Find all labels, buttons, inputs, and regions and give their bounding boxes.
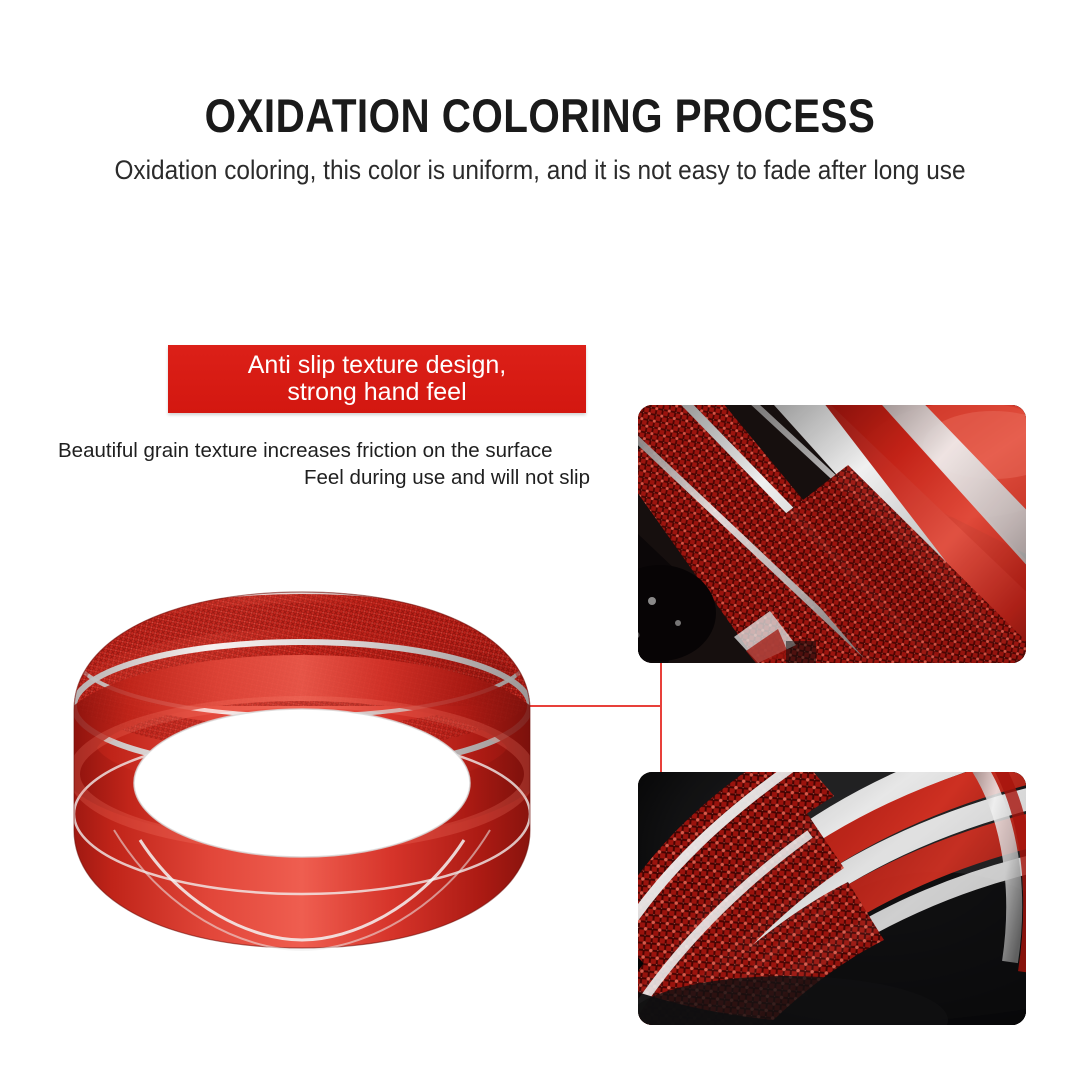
callout-line-1: Anti slip texture design, bbox=[248, 352, 506, 379]
page-subtitle: Oxidation coloring, this color is unifor… bbox=[43, 155, 1037, 186]
feature-description: Beautiful grain texture increases fricti… bbox=[58, 437, 590, 491]
leader-line-vertical bbox=[660, 660, 662, 778]
texture-closeup-bottom: Close-up of knurled red ring fitted agai… bbox=[638, 772, 1026, 1025]
feature-description-line-1: Beautiful grain texture increases fricti… bbox=[58, 437, 590, 464]
page-title: OXIDATION COLORING PROCESS bbox=[76, 88, 1005, 143]
texture-closeup-top: Close-up of anti-slip diamond knurl patt… bbox=[638, 405, 1026, 663]
product-feature-page: OXIDATION COLORING PROCESS Oxidation col… bbox=[0, 0, 1080, 1080]
feature-description-line-2: Feel during use and will not slip bbox=[58, 464, 590, 491]
product-ring-photo: Red aluminum decorative ring with anti-s… bbox=[52, 578, 552, 970]
callout-line-2: strong hand feel bbox=[287, 379, 466, 406]
callout-banner: Anti slip texture design, strong hand fe… bbox=[168, 345, 586, 413]
